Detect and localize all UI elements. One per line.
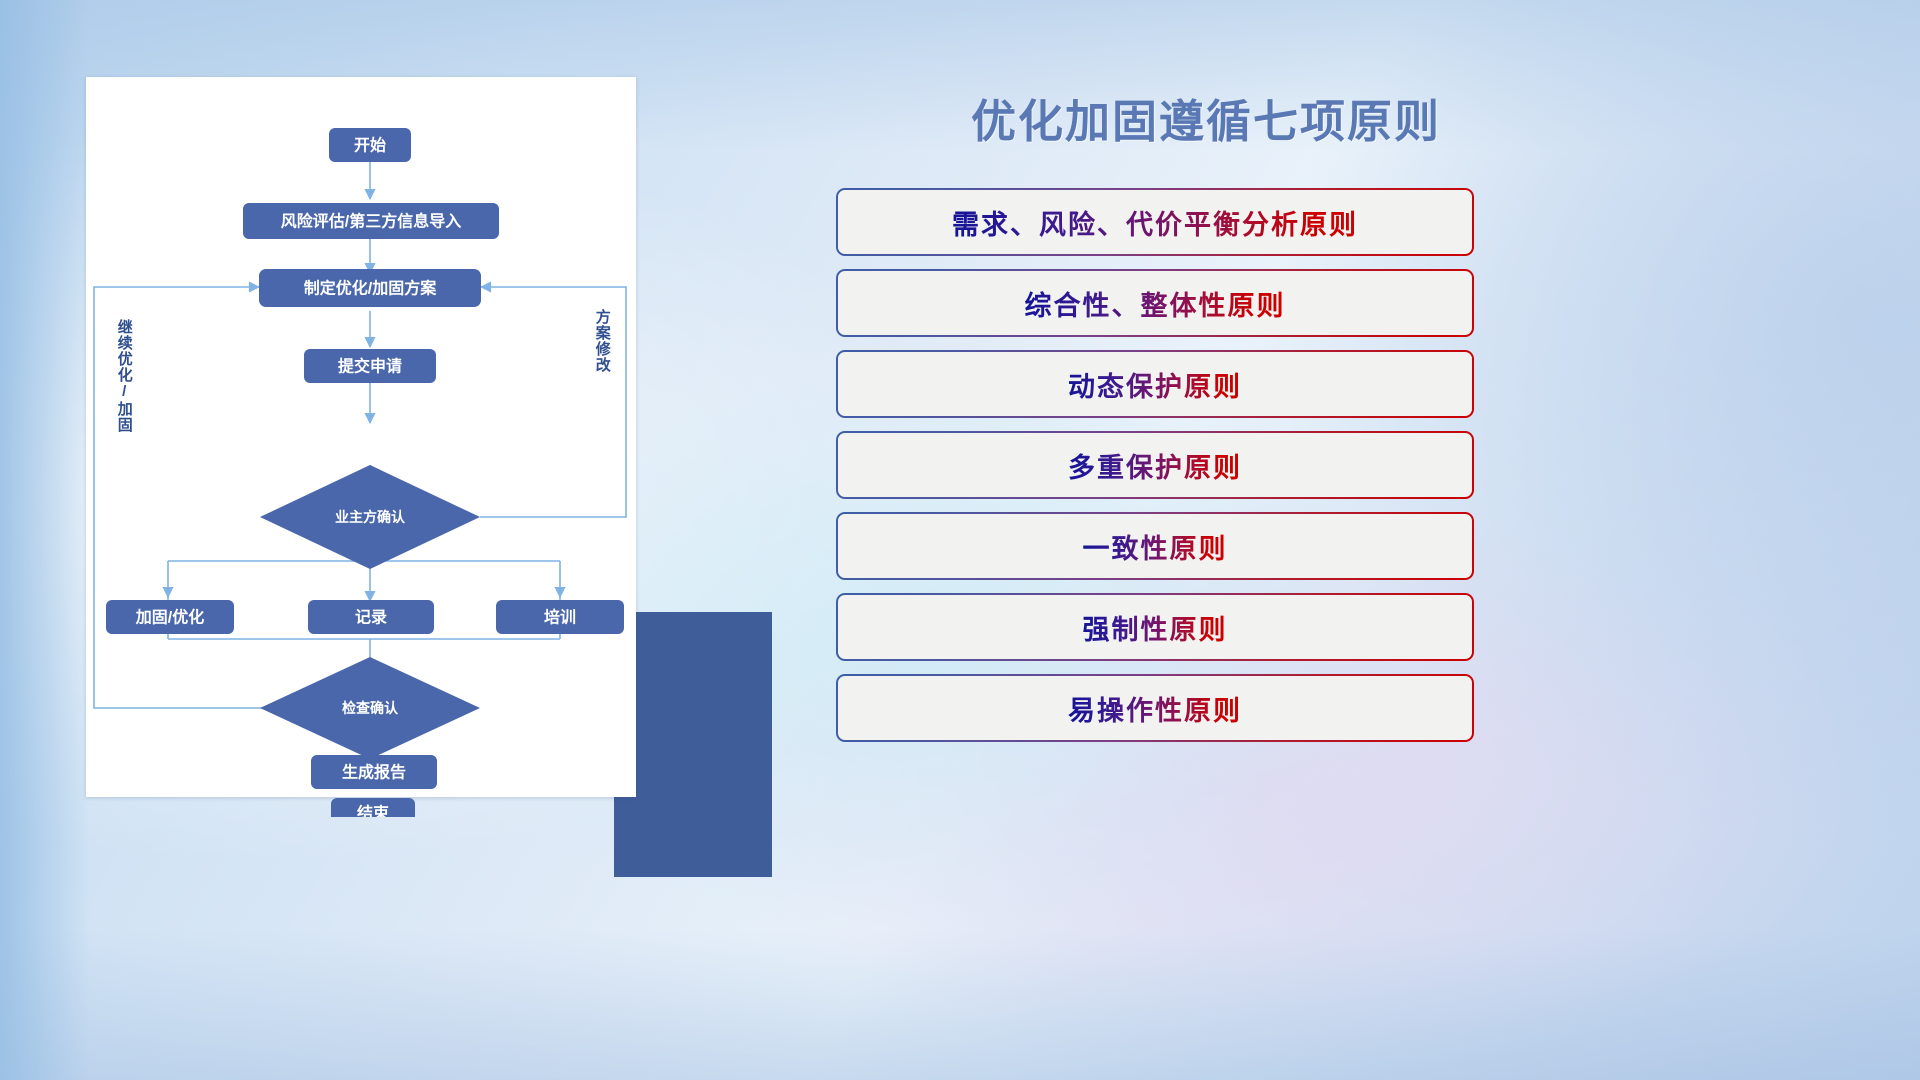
flow-side-label-continue-optimize: 继续优化/加固 [116,319,132,433]
flow-node-risk[interactable]: 风险评估/第三方信息导入 [243,203,499,239]
background-left-band [0,0,90,1080]
flow-node-check-confirm[interactable]: 检查确认 [260,657,480,759]
principle-card[interactable]: 强制性原则 [836,593,1474,661]
principle-label: 强制性原则 [1083,608,1228,647]
flow-node-plan[interactable]: 制定优化/加固方案 [259,269,481,307]
principle-card-inner: 动态保护原则 [838,352,1472,416]
flow-node-label: 结束 [356,804,390,818]
principle-card[interactable]: 动态保护原则 [836,350,1474,418]
principle-card-inner: 综合性、整体性原则 [838,271,1472,335]
principle-label: 需求、风险、代价平衡分析原则 [952,203,1358,242]
principles-panel: 优化加固遵循七项原则 需求、风险、代价平衡分析原则 综合性、整体性原则 动态保护… [836,0,1846,1080]
flow-node-label: 培训 [544,608,576,627]
flowchart-panel: 继续优化/加固 方案修改 [86,77,726,817]
principle-card[interactable]: 综合性、整体性原则 [836,269,1474,337]
principle-card-inner: 需求、风险、代价平衡分析原则 [838,190,1472,254]
flow-node-label: 风险评估/第三方信息导入 [281,212,461,231]
principle-label: 动态保护原则 [1068,365,1242,404]
principle-label: 一致性原则 [1083,527,1228,566]
flow-node-reinforce[interactable]: 加固/优化 [106,600,234,634]
principle-card[interactable]: 易操作性原则 [836,674,1474,742]
flow-node-start[interactable]: 开始 [329,128,411,162]
principle-card[interactable]: 需求、风险、代价平衡分析原则 [836,188,1474,256]
flow-node-label: 开始 [354,136,386,155]
flow-node-label: 生成报告 [342,763,406,782]
flow-side-label-plan-revise: 方案修改 [594,309,610,373]
flow-node-train[interactable]: 培训 [496,600,624,634]
flowchart-diagram: 开始 风险评估/第三方信息导入 制定优化/加固方案 提交申请 业主方确认 加固/… [86,77,726,817]
principle-card[interactable]: 多重保护原则 [836,431,1474,499]
flow-node-record[interactable]: 记录 [308,600,434,634]
flow-node-label: 制定优化/加固方案 [304,279,437,298]
flow-node-label: 加固/优化 [135,608,204,627]
principle-card[interactable]: 一致性原则 [836,512,1474,580]
flow-node-owner-confirm[interactable]: 业主方确认 [260,465,480,569]
flow-node-submit[interactable]: 提交申请 [304,349,436,383]
flow-node-label: 提交申请 [338,357,402,376]
principle-label: 易操作性原则 [1068,689,1242,728]
principle-card-inner: 强制性原则 [838,595,1472,659]
principles-list: 需求、风险、代价平衡分析原则 综合性、整体性原则 动态保护原则 多重保护原则 一… [836,188,1474,755]
flow-node-label: 记录 [355,609,387,627]
flow-node-label: 检查确认 [342,700,399,716]
principle-card-inner: 多重保护原则 [838,433,1472,497]
principle-card-inner: 一致性原则 [838,514,1472,578]
flow-node-end[interactable]: 结束 [331,798,415,817]
page-title: 优化加固遵循七项原则 [836,85,1576,150]
flow-node-report[interactable]: 生成报告 [311,755,437,789]
principle-card-inner: 易操作性原则 [838,676,1472,740]
principle-label: 综合性、整体性原则 [1025,284,1286,323]
flow-node-label: 业主方确认 [335,509,406,525]
principle-label: 多重保护原则 [1068,446,1242,485]
